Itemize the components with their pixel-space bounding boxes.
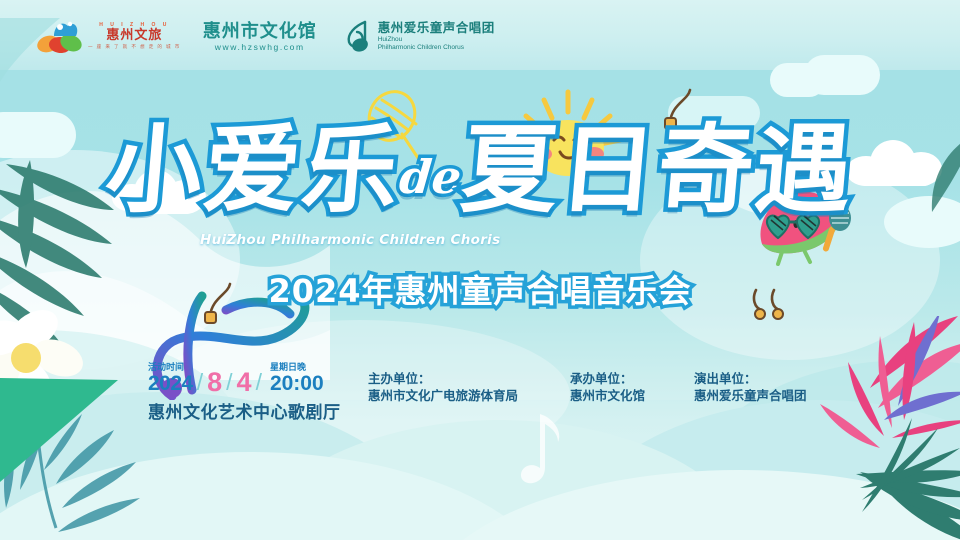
culture-tourism-cn: 惠州文旅 xyxy=(106,28,162,42)
organizer-undertaker-label: 承办单位： xyxy=(570,371,645,388)
main-title-part2: 夏日奇遇 xyxy=(457,114,859,226)
subtitle-block: 2024年惠州童声合唱音乐会 xyxy=(0,266,960,312)
chorus-text: 惠州爱乐童声合唱团 HuiZhou Philharmonic Children … xyxy=(378,21,495,52)
header-logo-row: H U I Z H O U 惠州文旅 一 座 来 了 就 不 想 走 的 城 市… xyxy=(0,14,960,58)
cloud-top-right xyxy=(770,55,880,97)
main-title-de: de xyxy=(398,150,464,204)
cultural-center-url[interactable]: www.hzswhg.com xyxy=(215,42,305,52)
culture-tourism-slogan: 一 座 来 了 就 不 想 走 的 城 市 xyxy=(88,44,181,50)
logo-huizhou-cultural-center[interactable]: 惠州市文化馆 www.hzswhg.com xyxy=(203,21,317,52)
organizer-host: 主办单位： 惠州市文化广电旅游体育局 xyxy=(368,371,518,405)
date-separator-3: / xyxy=(256,371,262,394)
event-weekday-label: 星期日晚 xyxy=(270,362,306,372)
chorus-en-line2: Philharmonic Children Chorus xyxy=(378,44,495,52)
culture-tourism-text: H U I Z H O U 惠州文旅 一 座 来 了 就 不 想 走 的 城 市 xyxy=(88,22,181,50)
cultural-center-cn: 惠州市文化馆 xyxy=(203,21,317,41)
logo-philharmonic-children-chorus[interactable]: 惠州爱乐童声合唱团 HuiZhou Philharmonic Children … xyxy=(343,20,495,52)
main-title-part1: 小爱乐 xyxy=(102,114,406,226)
event-clock-time: 20:00 xyxy=(270,373,324,394)
date-separator-1: / xyxy=(197,371,203,394)
event-year: 2024 xyxy=(148,373,193,394)
event-venue: 惠州文化艺术中心歌剧厅 xyxy=(148,398,358,423)
organizer-host-label: 主办单位： xyxy=(368,371,518,388)
main-title: 小爱乐de夏日奇遇 xyxy=(102,120,859,227)
eighth-note-decoration xyxy=(518,412,578,492)
organizer-undertaker-value: 惠州市文化馆 xyxy=(570,388,645,405)
organizer-performer-label: 演出单位： xyxy=(694,371,807,388)
chorus-cn: 惠州爱乐童声合唱团 xyxy=(378,21,495,35)
organizer-undertaker: 承办单位： 惠州市文化馆 xyxy=(570,371,645,405)
chorus-note-mark-icon xyxy=(343,20,373,52)
event-day: 4 xyxy=(237,370,252,394)
organizer-performer-value: 惠州爱乐童声合唱团 xyxy=(694,388,807,405)
event-date-row: 活动时间 2024 / 8 / 4 / 星期日晚 20:00 xyxy=(148,362,358,394)
chorus-en-line1: HuiZhou xyxy=(378,36,495,44)
poster-canvas: H U I Z H O U 惠州文旅 一 座 来 了 就 不 想 走 的 城 市… xyxy=(0,0,960,540)
organizer-performer: 演出单位： 惠州爱乐童声合唱团 xyxy=(694,371,807,405)
organizer-host-value: 惠州市文化广电旅游体育局 xyxy=(368,388,518,405)
event-time-column: 星期日晚 20:00 xyxy=(270,362,324,394)
event-datetime-block: 活动时间 2024 / 8 / 4 / 星期日晚 20:00 惠州文化艺术中心歌… xyxy=(148,362,358,423)
concert-subtitle: 2024年惠州童声合唱音乐会 xyxy=(268,266,691,312)
event-time-label: 活动时间 xyxy=(148,362,184,372)
title-english-subtitle: HuiZhou Philharmonic Children Choris xyxy=(200,232,560,248)
event-year-column: 活动时间 2024 xyxy=(148,362,193,394)
date-separator-2: / xyxy=(226,371,232,394)
event-month: 8 xyxy=(207,370,222,394)
title-block: 小爱乐de夏日奇遇 xyxy=(0,120,960,227)
culture-tourism-mark-icon xyxy=(36,18,82,54)
logo-huizhou-culture-tourism[interactable]: H U I Z H O U 惠州文旅 一 座 来 了 就 不 想 走 的 城 市 xyxy=(36,18,181,54)
